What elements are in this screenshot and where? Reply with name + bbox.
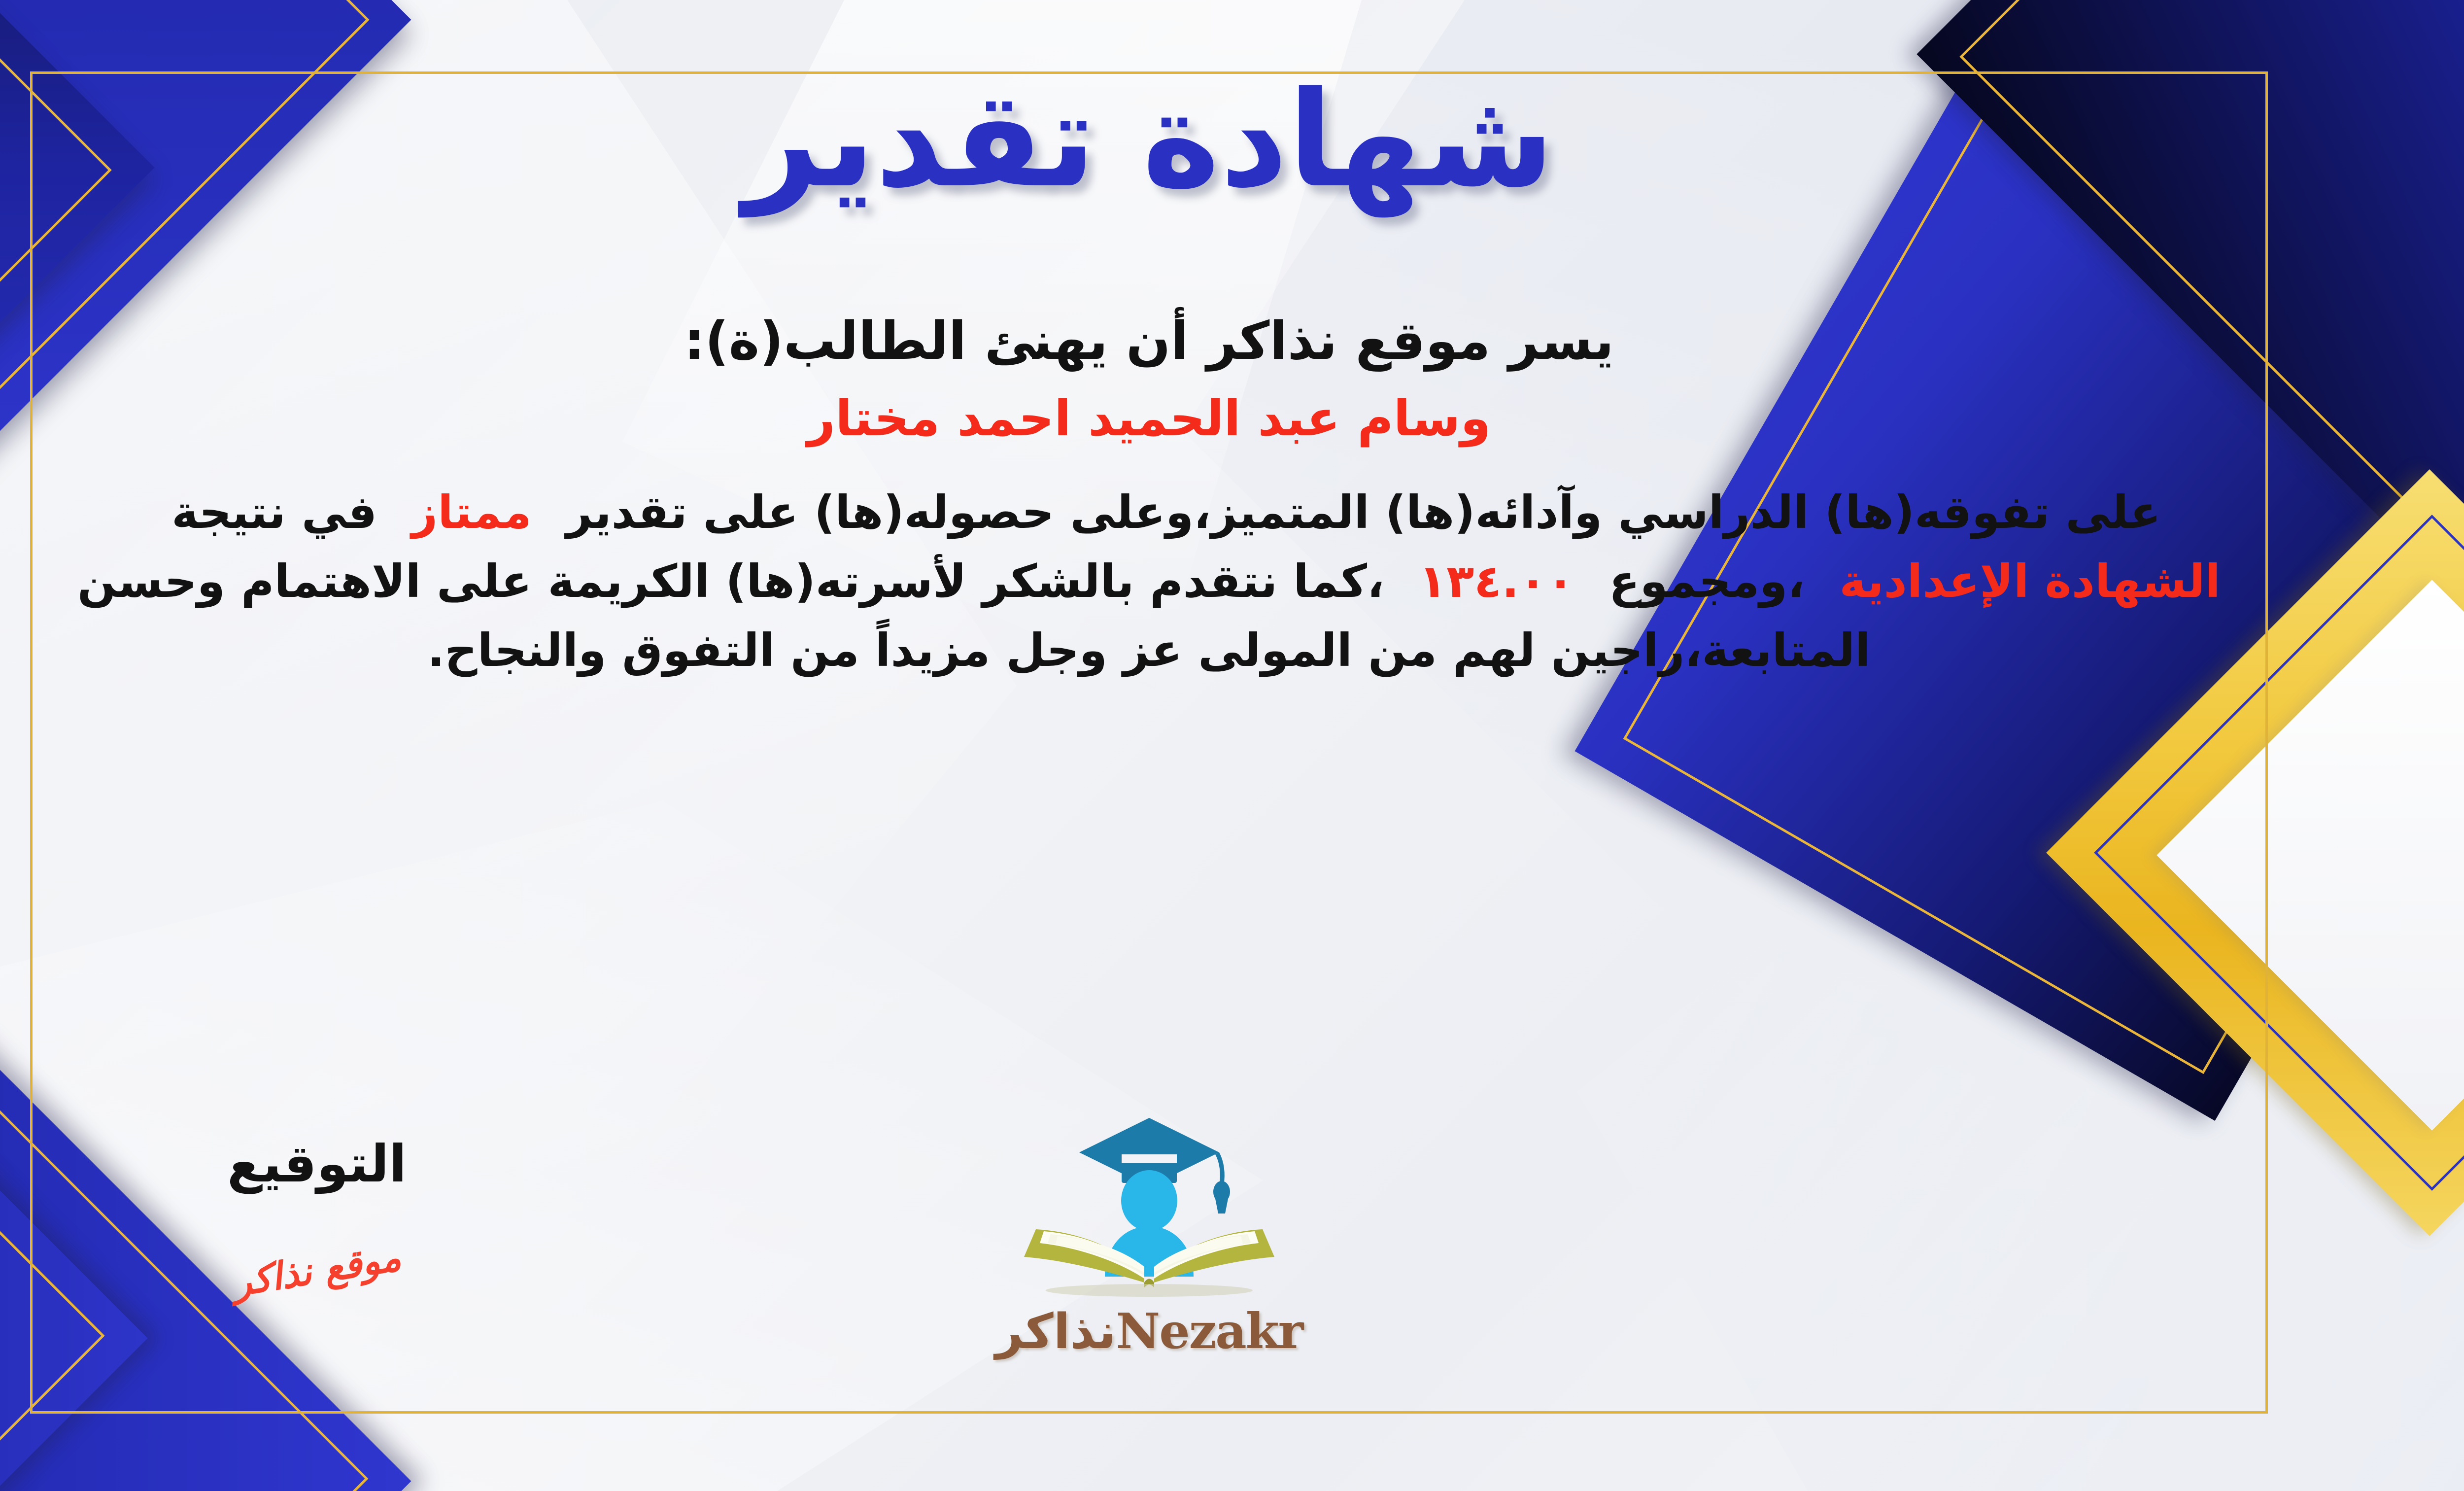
logo-name-ar: نذاكر	[995, 1304, 1116, 1360]
signature-handwriting: موقع نذاكر	[230, 1235, 404, 1305]
graduate-book-icon	[977, 1109, 1322, 1301]
total-score: ١٣٤.٠٠	[1419, 555, 1574, 608]
logo-wordmark: Nezakrنذاكر	[972, 1303, 1327, 1360]
body-part-2: في نتيجة	[171, 486, 377, 539]
greeting-line: يسر موقع نذاكر أن يهنئ الطالب(ة):	[31, 311, 2267, 371]
logo-name-en: Nezakr	[1116, 1303, 1303, 1360]
body-part-1: على تفوقه(ها) الدراسي وآدائه(ها) المتميز…	[566, 486, 2161, 539]
body-part-3: ،ومجموع	[1609, 555, 1805, 608]
certificate-page: شهادة تقدير يسر موقع نذاكر أن يهنئ الطال…	[0, 0, 2464, 1491]
exam-name: الشهادة الإعدادية	[1839, 555, 2221, 608]
signature-block: التوقيع موقع نذاكر	[120, 1134, 514, 1292]
certificate-body: على تفوقه(ها) الدراسي وآدائه(ها) المتميز…	[31, 478, 2267, 685]
student-name: وسام عبد الحميد احمد مختار	[31, 389, 2267, 447]
grade-value: ممتاز	[411, 486, 532, 539]
body-part-4: ،كما نتقدم بالشكر لأسرته(ها) الكريمة على…	[77, 555, 1871, 677]
site-logo: Nezakrنذاكر	[972, 1109, 1327, 1360]
signature-label: التوقيع	[120, 1134, 514, 1194]
certificate-content: شهادة تقدير يسر موقع نذاكر أن يهنئ الطال…	[31, 74, 2267, 1412]
certificate-title: شهادة تقدير	[31, 64, 2267, 216]
